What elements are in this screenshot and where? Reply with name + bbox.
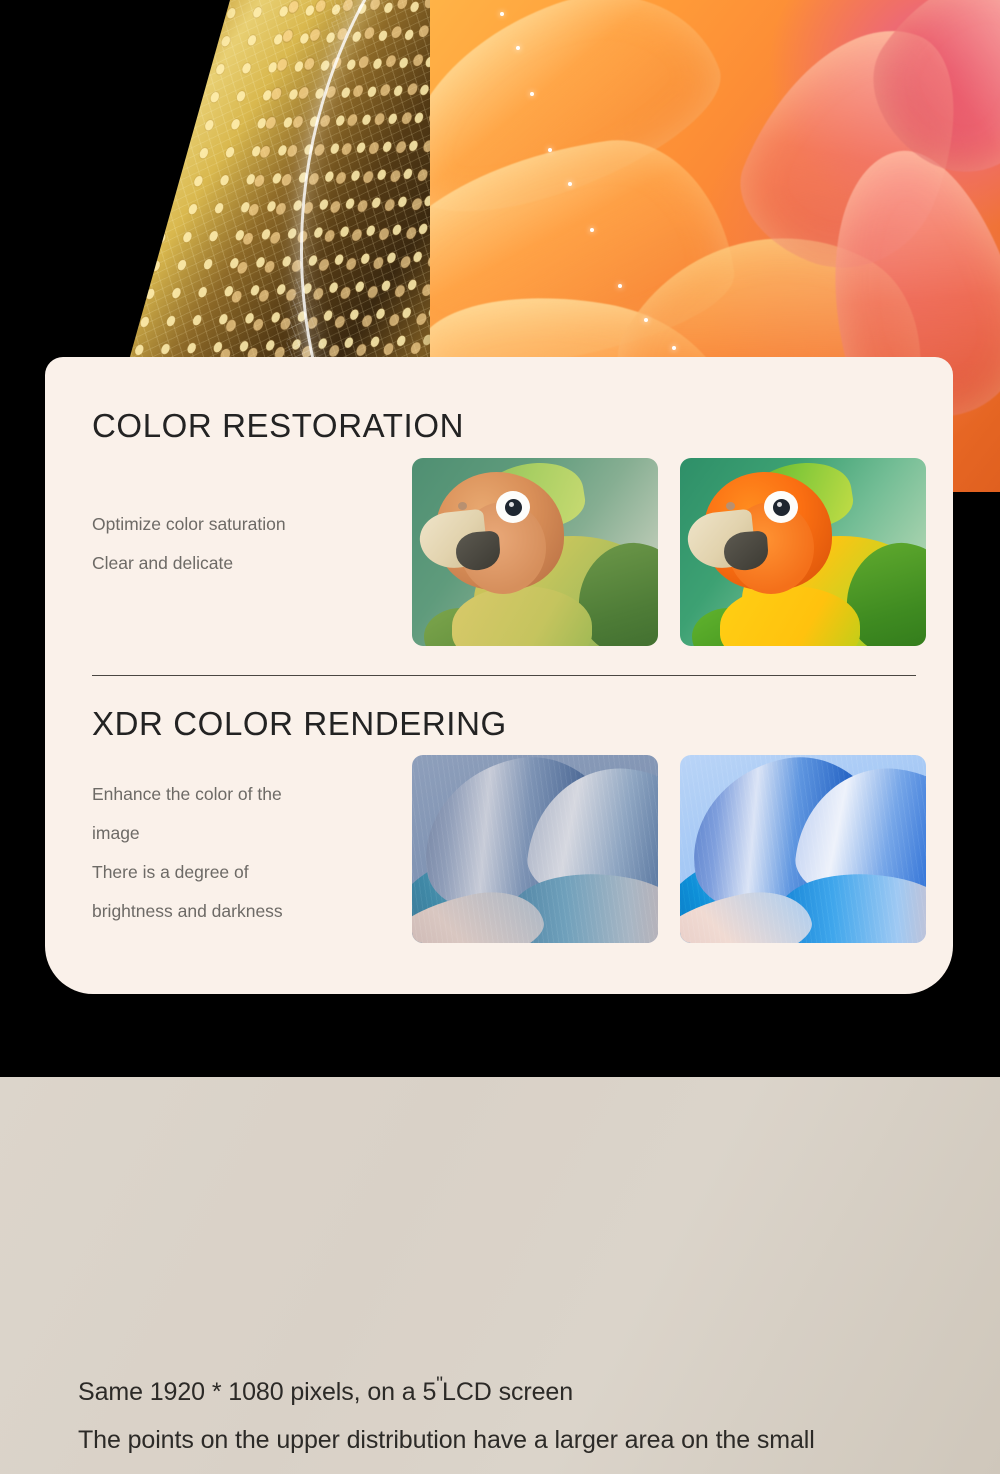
desc-line: brightness and darkness: [92, 892, 392, 931]
desc-line: Optimize color saturation: [92, 505, 392, 544]
bottom-text-line-1: Same 1920 * 1080 pixels, on a 5"LCD scre…: [78, 1374, 573, 1407]
section-desc-color-restoration: Optimize color saturation Clear and deli…: [92, 505, 392, 583]
parrot-after-artwork: [680, 458, 926, 646]
parrot-nostril: [726, 502, 735, 510]
bottom-text-line-2: The points on the upper distribution hav…: [78, 1426, 815, 1455]
blue-flower-after-artwork: [680, 755, 926, 943]
section-title-color-restoration: COLOR RESTORATION: [92, 407, 464, 445]
silk-streak-overlay: [680, 755, 926, 943]
parrot-eye: [773, 499, 790, 516]
blue-flower-before-artwork: [412, 755, 658, 943]
image-blue-flower-before[interactable]: [412, 755, 658, 943]
feature-card: COLOR RESTORATION Optimize color saturat…: [45, 357, 953, 994]
image-parrot-after[interactable]: [680, 458, 926, 646]
parrot-before-artwork: [412, 458, 658, 646]
desc-line: There is a degree of: [92, 853, 392, 892]
page-root: COLOR RESTORATION Optimize color saturat…: [0, 0, 1000, 1474]
image-blue-flower-after[interactable]: [680, 755, 926, 943]
parrot-eye: [505, 499, 522, 516]
bottom-line1-suffix: LCD screen: [442, 1378, 573, 1406]
bottom-line1-prefix: Same 1920 * 1080 pixels, on a 5: [78, 1378, 436, 1406]
desc-line: Clear and delicate: [92, 544, 392, 583]
section-divider: [92, 675, 916, 676]
silk-streak-overlay: [412, 755, 658, 943]
luminous-efficiency-section: [0, 1077, 1000, 1474]
parrot-nostril: [458, 502, 467, 510]
section-desc-xdr-color-rendering: Enhance the color of the image There is …: [92, 775, 392, 931]
image-parrot-before[interactable]: [412, 458, 658, 646]
desc-line: image: [92, 814, 392, 853]
desc-line: Enhance the color of the: [92, 775, 392, 814]
section-title-xdr-color-rendering: XDR COLOR RENDERING: [92, 705, 507, 743]
